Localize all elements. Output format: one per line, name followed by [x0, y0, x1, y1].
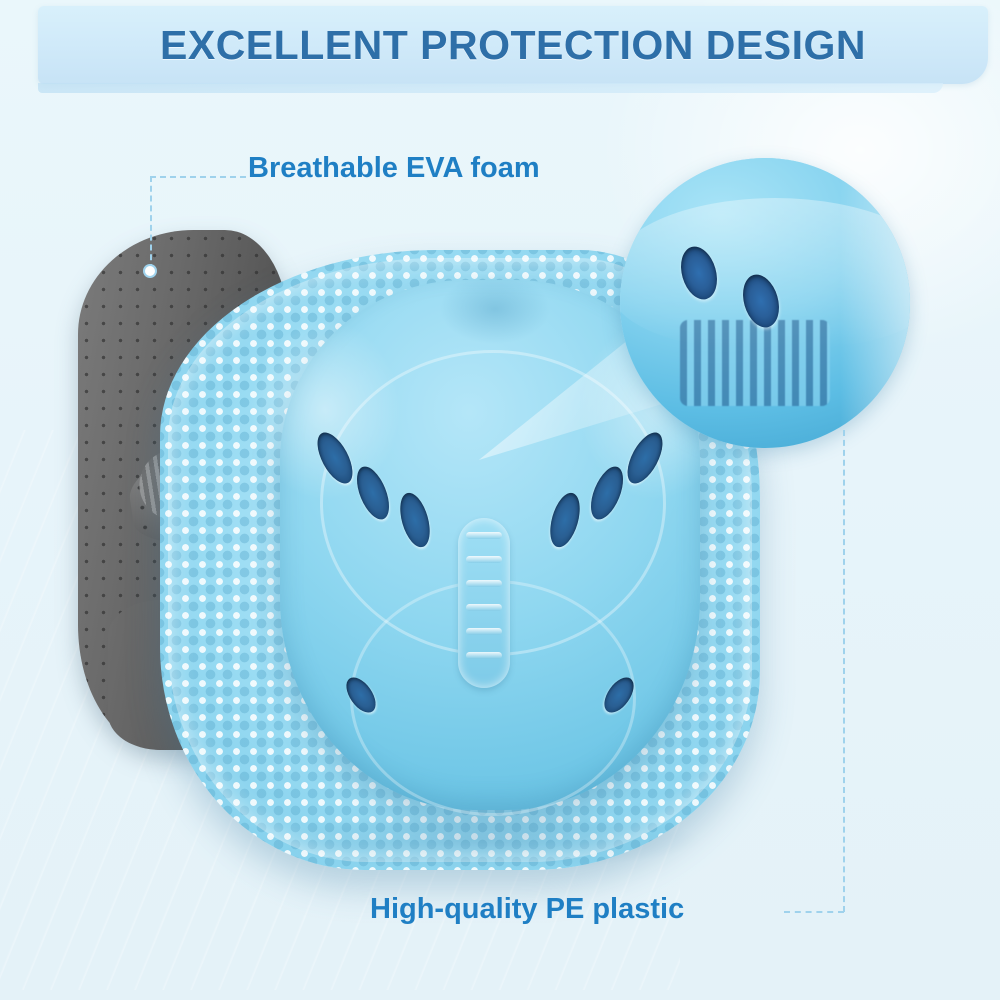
product-feature-image: EXCELLENT PROTECTION DESIGN: [0, 0, 1000, 1000]
callout-line-pe-vertical: [843, 430, 845, 912]
center-ridge: [458, 518, 510, 688]
banner-title: EXCELLENT PROTECTION DESIGN: [38, 20, 988, 70]
callout-label-pe-plastic: High-quality PE plastic: [370, 893, 684, 926]
callout-line-eva-vertical: [150, 176, 152, 270]
callout-line-eva-horizontal: [150, 176, 246, 178]
product-shadow: [270, 810, 700, 870]
callout-line-pe-horizontal: [784, 911, 844, 913]
callout-point-eva: [145, 266, 155, 276]
magnifier-shell-surface: [620, 158, 910, 448]
magnifier-mesh-detail: [680, 320, 830, 406]
header-banner: EXCELLENT PROTECTION DESIGN: [38, 6, 988, 84]
callout-label-eva-foam: Breathable EVA foam: [248, 152, 540, 185]
magnifier-edge-highlight: [840, 178, 910, 428]
shell-top-notch: [440, 274, 550, 344]
magnifier-detail-circle: [620, 158, 910, 448]
